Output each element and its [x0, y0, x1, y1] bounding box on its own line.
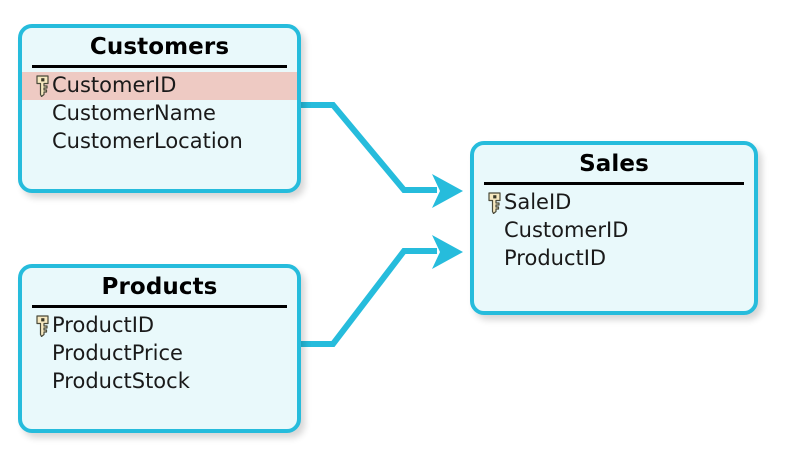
connector-line-customers-sales: [296, 105, 437, 190]
field-label-productstock: ProductStock: [52, 371, 190, 392]
field-label-customername: CustomerName: [52, 103, 216, 124]
schema-diagram-canvas: Customers CustomerID CustomerName Custom…: [0, 0, 788, 471]
field-row-productstock[interactable]: ProductStock: [22, 368, 297, 396]
arrow-head-customers-sales: [432, 174, 463, 208]
entity-products-title: Products: [22, 268, 297, 305]
field-label-productprice: ProductPrice: [52, 343, 183, 364]
field-label-productid: ProductID: [52, 315, 154, 336]
field-row-customerlocation[interactable]: CustomerLocation: [22, 128, 297, 156]
entity-sales[interactable]: Sales SaleID CustomerID ProductID: [470, 141, 758, 315]
key-icon: [486, 191, 503, 215]
entity-customers-title: Customers: [22, 28, 297, 65]
entity-customers-divider: [32, 65, 287, 68]
key-slot-empty: [34, 342, 51, 366]
field-label-sales-customerid: CustomerID: [504, 220, 628, 241]
field-row-productprice[interactable]: ProductPrice: [22, 340, 297, 368]
key-slot-empty: [486, 219, 503, 243]
connector-line-products-sales: [296, 251, 437, 344]
entity-sales-field-list: SaleID CustomerID ProductID: [474, 189, 754, 281]
key-icon: [34, 314, 51, 338]
field-label-saleid: SaleID: [504, 192, 571, 213]
field-label-sales-productid: ProductID: [504, 248, 606, 269]
field-row-sales-customerid[interactable]: CustomerID: [474, 217, 754, 245]
field-row-customerid[interactable]: CustomerID: [22, 72, 297, 100]
entity-sales-title: Sales: [474, 145, 754, 182]
key-slot-empty: [34, 102, 51, 126]
key-slot-empty: [486, 247, 503, 271]
entity-customers-field-list: CustomerID CustomerName CustomerLocation: [22, 72, 297, 164]
field-row-customername[interactable]: CustomerName: [22, 100, 297, 128]
connector-products-to-sales: [296, 235, 463, 344]
field-row-sales-productid[interactable]: ProductID: [474, 245, 754, 273]
entity-products-field-list: ProductID ProductPrice ProductStock: [22, 312, 297, 404]
field-label-customerlocation: CustomerLocation: [52, 131, 243, 152]
entity-sales-divider: [484, 182, 744, 185]
field-row-productid[interactable]: ProductID: [22, 312, 297, 340]
key-slot-empty: [34, 370, 51, 394]
entity-customers[interactable]: Customers CustomerID CustomerName Custom…: [18, 24, 301, 193]
field-row-saleid[interactable]: SaleID: [474, 189, 754, 217]
field-label-customerid: CustomerID: [52, 75, 176, 96]
arrow-head-products-sales: [432, 235, 463, 269]
entity-products[interactable]: Products ProductID ProductPrice ProductS…: [18, 264, 301, 433]
connector-customers-to-sales: [296, 105, 463, 208]
key-slot-empty: [34, 130, 51, 154]
entity-products-divider: [32, 305, 287, 308]
key-icon: [34, 74, 51, 98]
